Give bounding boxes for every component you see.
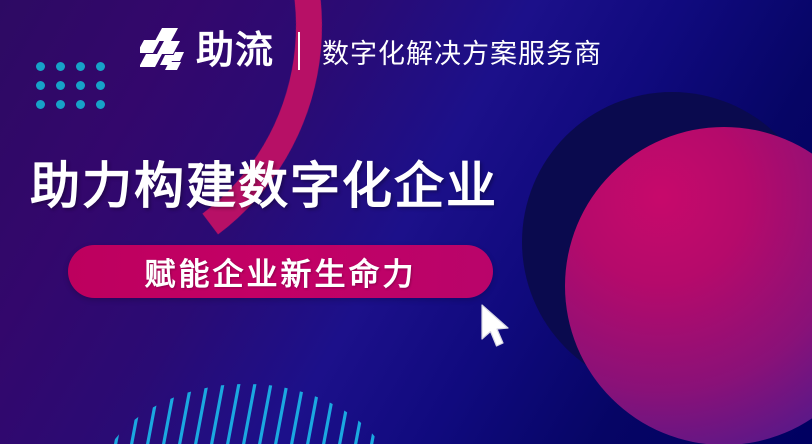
grid-dot [56,81,65,90]
header-tagline: 数字化解决方案服务商 [322,32,602,71]
page-title: 助力构建数字化企业 [30,146,498,218]
slogan-pill-label: 赋能企业新生命力 [145,249,417,294]
grid-dot [36,100,45,109]
grid-dot [76,81,85,90]
grid-dot [76,62,85,71]
zhuliu-lightning-logo-icon [140,28,188,74]
grid-dot [96,100,105,109]
vertical-divider [298,32,300,70]
promo-banner: 助流 数字化解决方案服务商 助力构建数字化企业 赋能企业新生命力 [0,0,812,444]
slogan-pill-button[interactable]: 赋能企业新生命力 [68,245,493,298]
logo-wordmark: 助流 [196,32,274,70]
grid-dot [96,62,105,71]
banner-header: 助流 数字化解决方案服务商 [140,22,602,80]
grid-dot [96,81,105,90]
grid-dot [56,100,65,109]
cyan-diagonal-line-fan [96,326,396,444]
teal-dot-grid [36,62,116,119]
grid-dot [56,62,65,71]
grid-dot [36,62,45,71]
grid-dot [36,81,45,90]
grid-dot [76,100,85,109]
